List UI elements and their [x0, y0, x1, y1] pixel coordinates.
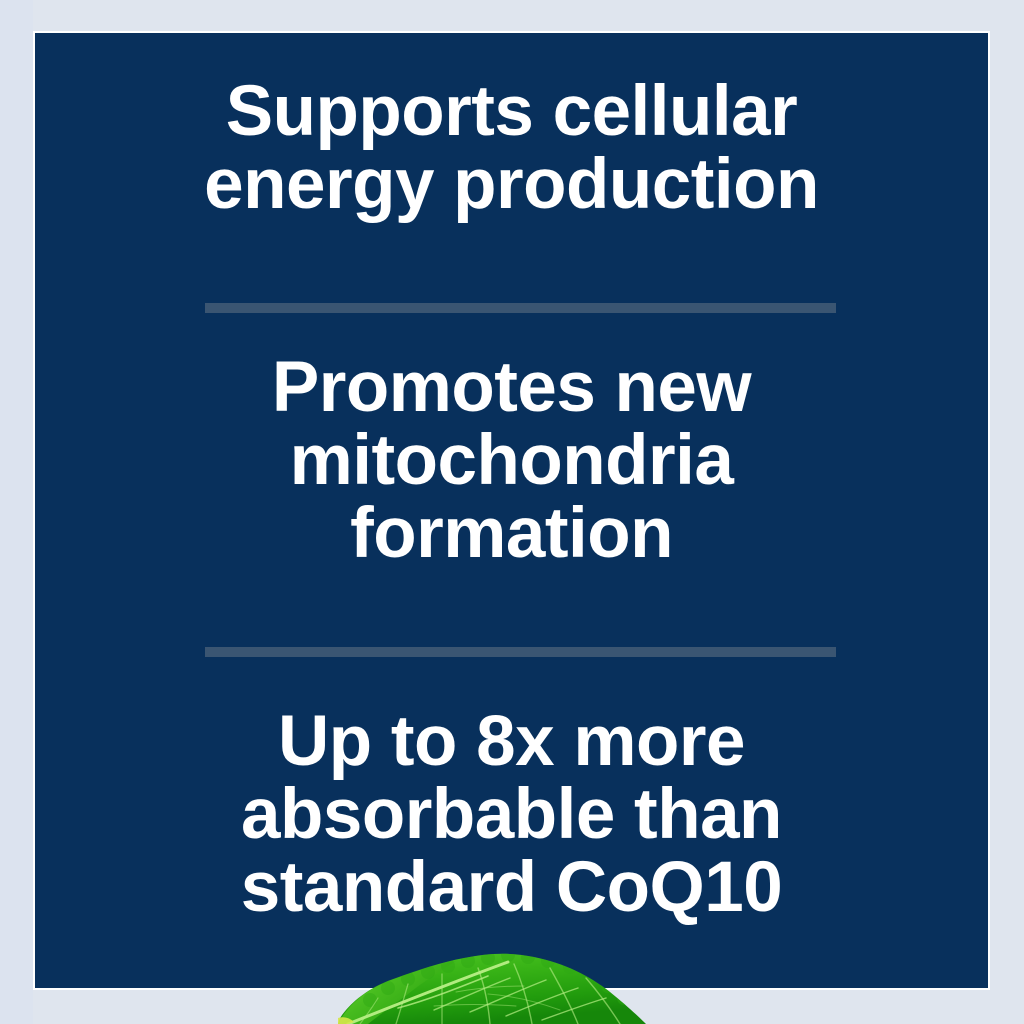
benefit-item-absorption: Up to 8x more absorbable than standard C…	[35, 705, 988, 924]
benefit-item-cellular-energy: Supports cellular energy production	[35, 75, 988, 221]
benefits-panel: Supports cellular energy production Prom…	[35, 33, 988, 988]
product-benefits-card: Supports cellular energy production Prom…	[0, 0, 1024, 1024]
benefit-divider-2	[205, 647, 836, 657]
benefit-item-mitochondria-formation: Promotes new mitochondria formation	[35, 351, 988, 570]
benefit-divider-1	[205, 303, 836, 313]
benefits-panel-inner: Supports cellular energy production Prom…	[35, 33, 988, 988]
